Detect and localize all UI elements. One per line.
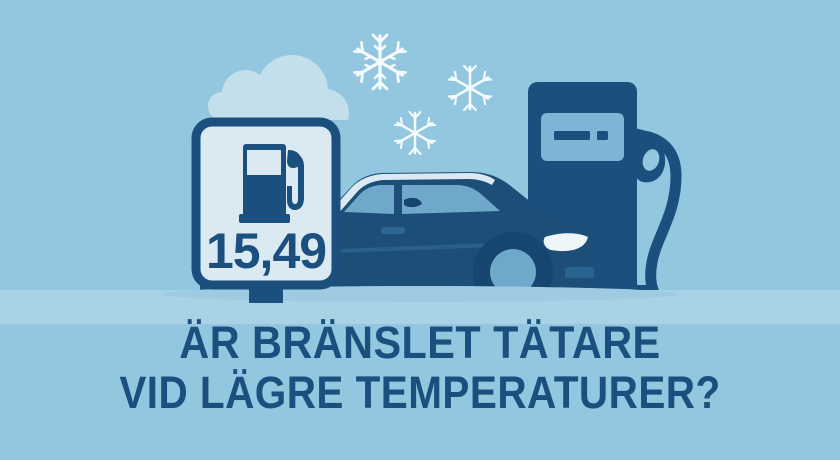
front-bumper	[565, 267, 594, 279]
price-sign: 15,49	[196, 122, 336, 303]
b-pillar	[394, 185, 398, 214]
display-dash-long	[554, 131, 590, 140]
door-handle	[381, 227, 405, 234]
price-value: 15,49	[206, 223, 326, 279]
display-dash-short	[597, 131, 608, 140]
illustration-canvas: 15,49 ÄR BRÄNSLET TÄTARE VID LÄGRE TEMPE…	[0, 0, 840, 460]
scene-artwork: 15,49	[0, 0, 840, 460]
